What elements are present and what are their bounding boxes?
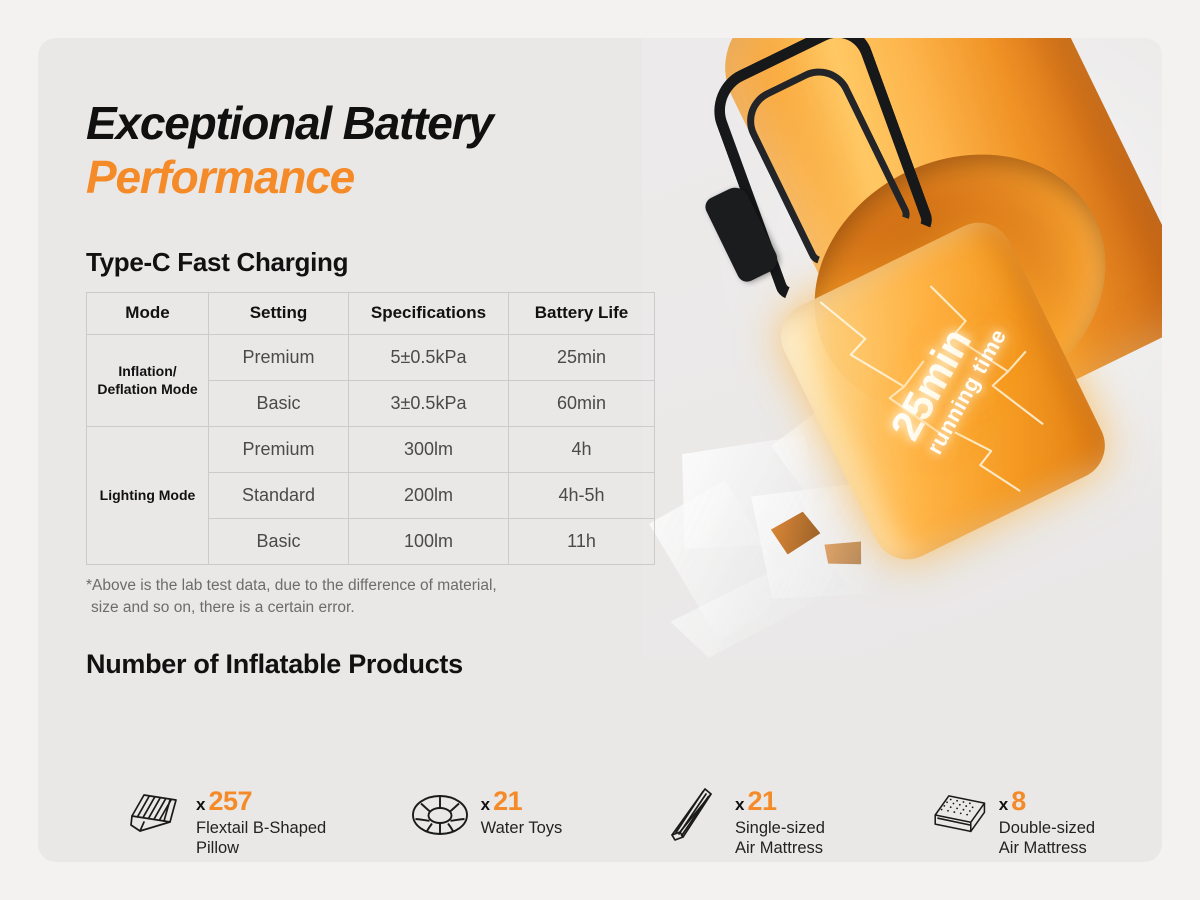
badge-main-text: 25min <box>874 304 989 465</box>
badge-sub-text: running time <box>921 324 1013 459</box>
section-title-products: Number of Inflatable Products <box>86 649 726 680</box>
col-header-battery-life: Battery Life <box>509 293 655 335</box>
multiplier-symbol: x <box>196 795 205 814</box>
count-text: x257 Flextail B-Shaped Pillow <box>196 786 326 858</box>
col-header-setting: Setting <box>209 293 349 335</box>
count-number: 21 <box>493 786 522 816</box>
lightning-icon <box>770 211 1117 570</box>
footnote-line-2: size and so on, there is a certain error… <box>86 599 355 616</box>
count-label: Flextail B-Shaped Pillow <box>196 818 326 858</box>
cell-spec: 300lm <box>349 427 509 473</box>
carry-handle <box>703 38 937 305</box>
cell-life: 25min <box>509 335 655 381</box>
count-text: x21 Single-sized Air Mattress <box>735 786 825 858</box>
cell-setting: Basic <box>209 381 349 427</box>
cell-spec: 100lm <box>349 519 509 565</box>
spec-table: Mode Setting Specifications Battery Life… <box>86 292 655 565</box>
multiplier-symbol: x <box>999 795 1008 814</box>
count-quantity: x21 <box>735 788 825 815</box>
table-row: Inflation/ Deflation Mode Premium 5±0.5k… <box>87 335 655 381</box>
count-label: Double-sized Air Mattress <box>999 818 1095 858</box>
cell-setting: Premium <box>209 427 349 473</box>
pillow-icon <box>124 786 186 844</box>
multiplier-symbol: x <box>481 795 490 814</box>
count-item-water-toys: x21 Water Toys <box>409 786 663 844</box>
col-header-mode: Mode <box>87 293 209 335</box>
battery-cell: 25min running time <box>770 211 1117 570</box>
count-quantity: x8 <box>999 788 1095 815</box>
table-footnote: *Above is the lab test data, due to the … <box>86 575 686 619</box>
mode-group-lighting: Lighting Mode <box>87 427 209 565</box>
content-column: Exceptional Battery Performance Type-C F… <box>86 98 726 692</box>
mode-group-inflation: Inflation/ Deflation Mode <box>87 335 209 427</box>
cell-life: 60min <box>509 381 655 427</box>
count-quantity: x21 <box>481 788 563 815</box>
cell-life: 11h <box>509 519 655 565</box>
count-number: 8 <box>1011 786 1026 816</box>
count-item-double-mattress: x8 Double-sized Air Mattress <box>927 786 1162 858</box>
handle-wire <box>736 57 915 269</box>
count-number: 257 <box>208 786 252 816</box>
cell-setting: Premium <box>209 335 349 381</box>
section-title-charging: Type-C Fast Charging <box>86 247 726 278</box>
count-item-single-mattress: x21 Single-sized Air Mattress <box>663 786 927 858</box>
count-item-pillow: x257 Flextail B-Shaped Pillow <box>124 786 409 858</box>
cell-setting: Standard <box>209 473 349 519</box>
double-mattress-icon <box>927 786 989 844</box>
pump-body <box>704 38 1162 461</box>
cell-life: 4h <box>509 427 655 473</box>
infographic-card: 25min running time Exceptional Battery P… <box>38 38 1162 862</box>
running-time-badge: 25min running time <box>874 304 1013 479</box>
count-label: Single-sized Air Mattress <box>735 818 825 858</box>
count-number: 21 <box>747 786 776 816</box>
pump-inner-mouth <box>771 107 1149 461</box>
swim-ring-icon <box>409 786 471 844</box>
col-header-specifications: Specifications <box>349 293 509 335</box>
count-label: Water Toys <box>481 818 563 838</box>
cell-life: 4h-5h <box>509 473 655 519</box>
cell-setting: Basic <box>209 519 349 565</box>
page-title: Exceptional Battery <box>86 98 726 150</box>
table-row: Lighting Mode Premium 300lm 4h <box>87 427 655 473</box>
page-title-accent: Performance <box>86 152 726 204</box>
cell-spec: 5±0.5kPa <box>349 335 509 381</box>
single-mattress-icon <box>663 786 725 844</box>
cell-spec: 200lm <box>349 473 509 519</box>
pump-rim-lip <box>746 79 1162 483</box>
count-quantity: x257 <box>196 788 326 815</box>
count-text: x8 Double-sized Air Mattress <box>999 786 1095 858</box>
count-text: x21 Water Toys <box>481 786 563 838</box>
product-count-row: x257 Flextail B-Shaped Pillow <box>124 786 1162 858</box>
table-header-row: Mode Setting Specifications Battery Life <box>87 293 655 335</box>
cell-spec: 3±0.5kPa <box>349 381 509 427</box>
footnote-line-1: *Above is the lab test data, due to the … <box>86 577 497 594</box>
multiplier-symbol: x <box>735 795 744 814</box>
